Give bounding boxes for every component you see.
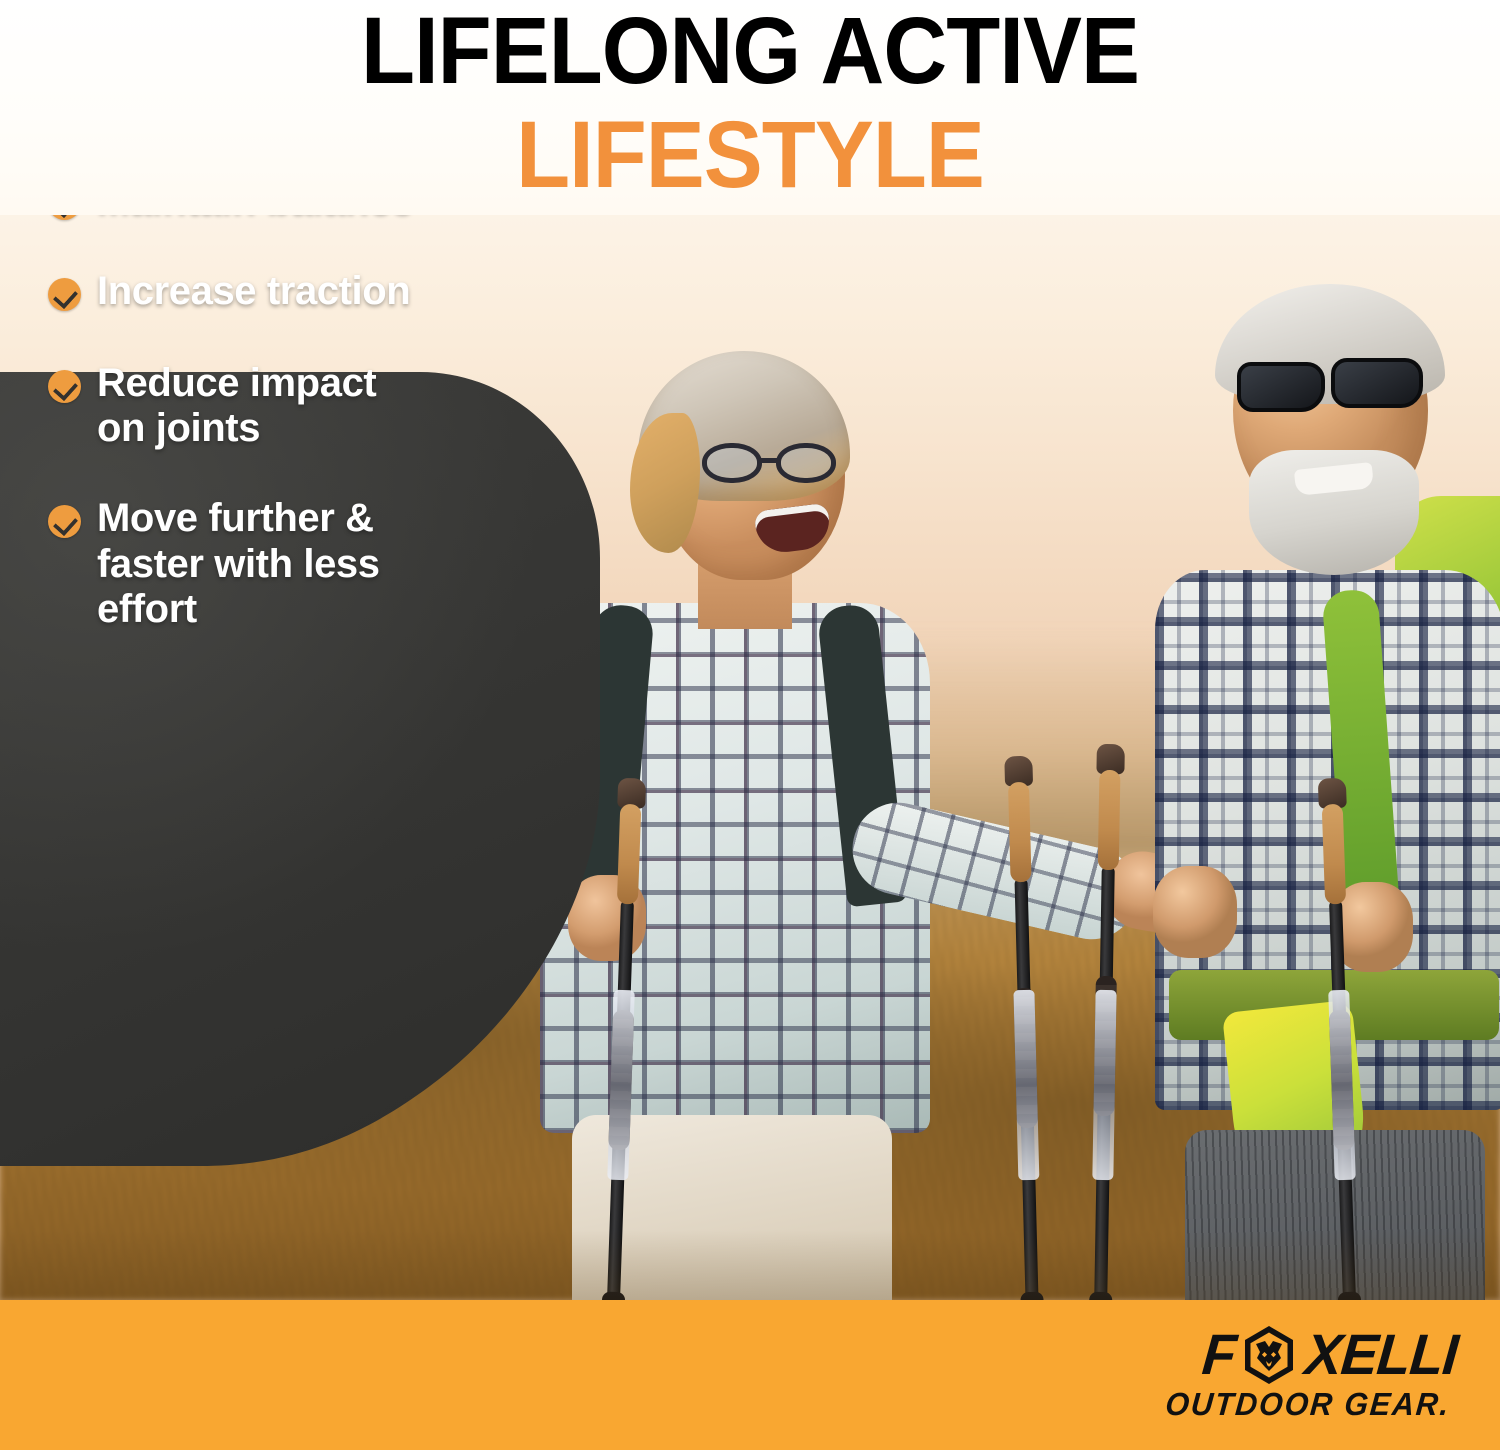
check-circle-icon xyxy=(48,370,81,403)
headline-line-1: LIFELONG ACTIVE xyxy=(53,0,1448,96)
logo-tagline: OUTDOOR GEAR. xyxy=(1164,1386,1452,1423)
eyeglass-lens-right xyxy=(776,443,836,483)
benefit-label: Move further &faster with lesseffort xyxy=(97,496,380,633)
check-circle-icon xyxy=(48,505,81,538)
pole-cork-grip xyxy=(1098,770,1121,870)
sunglass-lens-right xyxy=(1331,358,1423,408)
check-circle-icon xyxy=(48,278,81,311)
benefit-item-increase-traction: Increase traction xyxy=(48,269,518,315)
eyeglass-lens-left xyxy=(702,443,762,483)
benefit-label: Increase traction xyxy=(97,269,410,315)
man-left-hand xyxy=(1153,866,1237,958)
logo-brand-part1: F xyxy=(1200,1327,1238,1384)
woman-eyeglasses xyxy=(702,443,842,485)
headline-block: LIFELONG ACTIVE LIFESTYLE xyxy=(0,0,1500,215)
headline-line-2: LIFESTYLE xyxy=(53,96,1448,200)
foxelli-logo: F XELLI OUTDOOR GEAR. xyxy=(1115,1324,1460,1426)
brand-footer: F XELLI OUTDOOR GEAR. xyxy=(0,1300,1500,1450)
benefit-item-reduce-impact: Reduce impacton joints xyxy=(48,361,518,452)
logo-brand-part2: XELLI xyxy=(1303,1327,1460,1384)
photo-bottom-shade xyxy=(0,1230,1500,1300)
fox-hexagon-icon xyxy=(1238,1324,1300,1386)
benefit-item-move-further: Move further &faster with lesseffort xyxy=(48,496,518,633)
pole-cork-grip xyxy=(617,804,641,905)
logo-wordmark: F XELLI xyxy=(1115,1324,1460,1386)
pole-cork-grip xyxy=(1008,782,1032,883)
promo-image-canvas: LIFELONG ACTIVE LIFESTYLE Improve postur… xyxy=(0,0,1500,1450)
benefit-label: Reduce impacton joints xyxy=(97,361,376,452)
sunglass-lens-left xyxy=(1237,362,1325,412)
pole-cork-grip xyxy=(1322,804,1346,905)
man-sunglasses xyxy=(1237,362,1427,418)
pole-brand-decal xyxy=(1092,990,1116,1180)
